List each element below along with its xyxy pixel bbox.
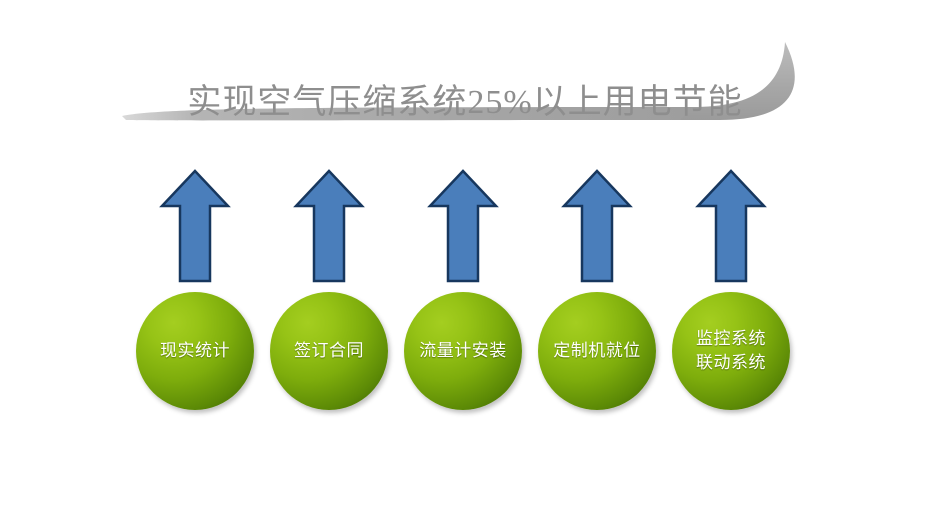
step-item-4[interactable]: 定制机就位	[530, 168, 664, 428]
step-label-4: 定制机就位	[553, 339, 641, 363]
up-arrow-icon	[695, 168, 767, 284]
up-arrow-icon	[159, 168, 231, 284]
step-label-3: 流量计安装	[419, 339, 507, 363]
step-label-5: 监控系统 联动系统	[696, 327, 766, 375]
step-label-2: 签订合同	[294, 339, 364, 363]
step-label-1: 现实统计	[160, 339, 230, 363]
step-circle-4[interactable]: 定制机就位	[538, 292, 656, 410]
up-arrow-icon	[561, 168, 633, 284]
steps-row: 现实统计 签订合同 流量计安装 定	[0, 0, 945, 529]
up-arrow-icon	[293, 168, 365, 284]
slide-canvas: 实现空气压缩系统25%以上用电节能 现实统计 签订合同	[0, 0, 945, 529]
step-item-2[interactable]: 签订合同	[262, 168, 396, 428]
step-circle-1[interactable]: 现实统计	[136, 292, 254, 410]
step-circle-2[interactable]: 签订合同	[270, 292, 388, 410]
step-item-1[interactable]: 现实统计	[128, 168, 262, 428]
step-circle-3[interactable]: 流量计安装	[404, 292, 522, 410]
step-item-5[interactable]: 监控系统 联动系统	[664, 168, 798, 428]
up-arrow-icon	[427, 168, 499, 284]
step-circle-5[interactable]: 监控系统 联动系统	[672, 292, 790, 410]
step-item-3[interactable]: 流量计安装	[396, 168, 530, 428]
